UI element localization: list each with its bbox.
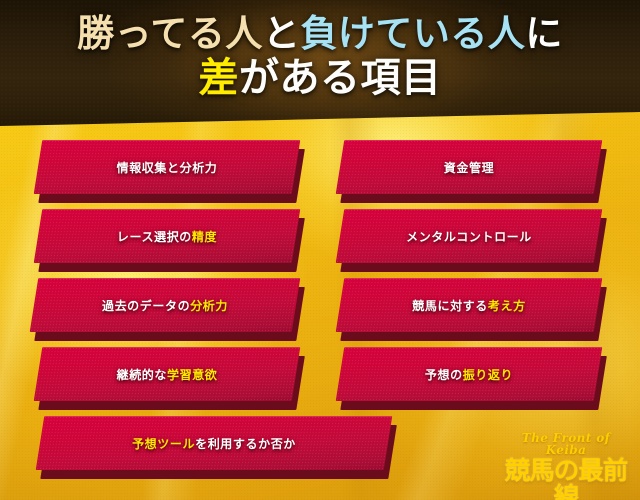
item-banner-left-column-1[interactable]: レース選択の精度 (38, 209, 296, 263)
item-banner-bottom-row-0[interactable]: 予想ツールを利用するか否か (40, 416, 388, 470)
item-banner-left-column-3[interactable]: 継続的な学習意欲 (38, 347, 296, 401)
title-line-2-segment-0: 差 (199, 54, 240, 101)
item-banner-left-column-0[interactable]: 情報収集と分析力 (38, 140, 296, 194)
item-banner-left-column-2[interactable]: 過去のデータの分析力 (34, 278, 296, 332)
banner-face (30, 278, 301, 332)
banner-face (336, 209, 603, 263)
title-line-2: 差がある項目 (0, 57, 640, 99)
page-title: 勝ってる人と負けている人に 差がある項目 (0, 14, 640, 100)
banner-shape (336, 347, 603, 401)
banner-shape (34, 140, 301, 194)
banner-face (336, 140, 603, 194)
title-line-1: 勝ってる人と負けている人に (0, 14, 640, 53)
banner-face (336, 347, 603, 401)
banner-face (34, 209, 301, 263)
item-banner-right-column-1[interactable]: メンタルコントロール (340, 209, 598, 263)
brand-logo: The Front of Keiba 競馬の最前線 (500, 432, 632, 494)
title-line-1-segment-2: 負けている人 (300, 11, 525, 55)
banner-face (34, 140, 301, 194)
poster-canvas: 勝ってる人と負けている人に 差がある項目 情報収集と分析力レース選択の精度過去の… (0, 0, 640, 500)
title-line-1-segment-1: と (263, 11, 301, 55)
logo-kanji-text: 競馬の最前線 (499, 458, 634, 500)
title-band: 勝ってる人と負けている人に 差がある項目 (0, 0, 640, 126)
title-line-2-segment-1: がある項目 (239, 54, 442, 101)
banner-shape (34, 347, 301, 401)
banner-shape (336, 140, 603, 194)
banner-shape (34, 209, 301, 263)
item-banner-right-column-3[interactable]: 予想の振り返り (340, 347, 598, 401)
banner-shape (336, 278, 603, 332)
banner-face (34, 347, 301, 401)
item-banner-right-column-0[interactable]: 資金管理 (340, 140, 598, 194)
title-line-1-segment-0: 勝ってる人 (77, 11, 263, 55)
title-line-1-segment-3: に (525, 11, 563, 55)
banner-shape (30, 278, 301, 332)
banner-face (336, 278, 603, 332)
logo-script-text: The Front of Keiba (500, 432, 632, 456)
banner-shape (36, 416, 393, 470)
item-banner-right-column-2[interactable]: 競馬に対する考え方 (340, 278, 598, 332)
banner-face (36, 416, 393, 470)
banner-shape (336, 209, 603, 263)
